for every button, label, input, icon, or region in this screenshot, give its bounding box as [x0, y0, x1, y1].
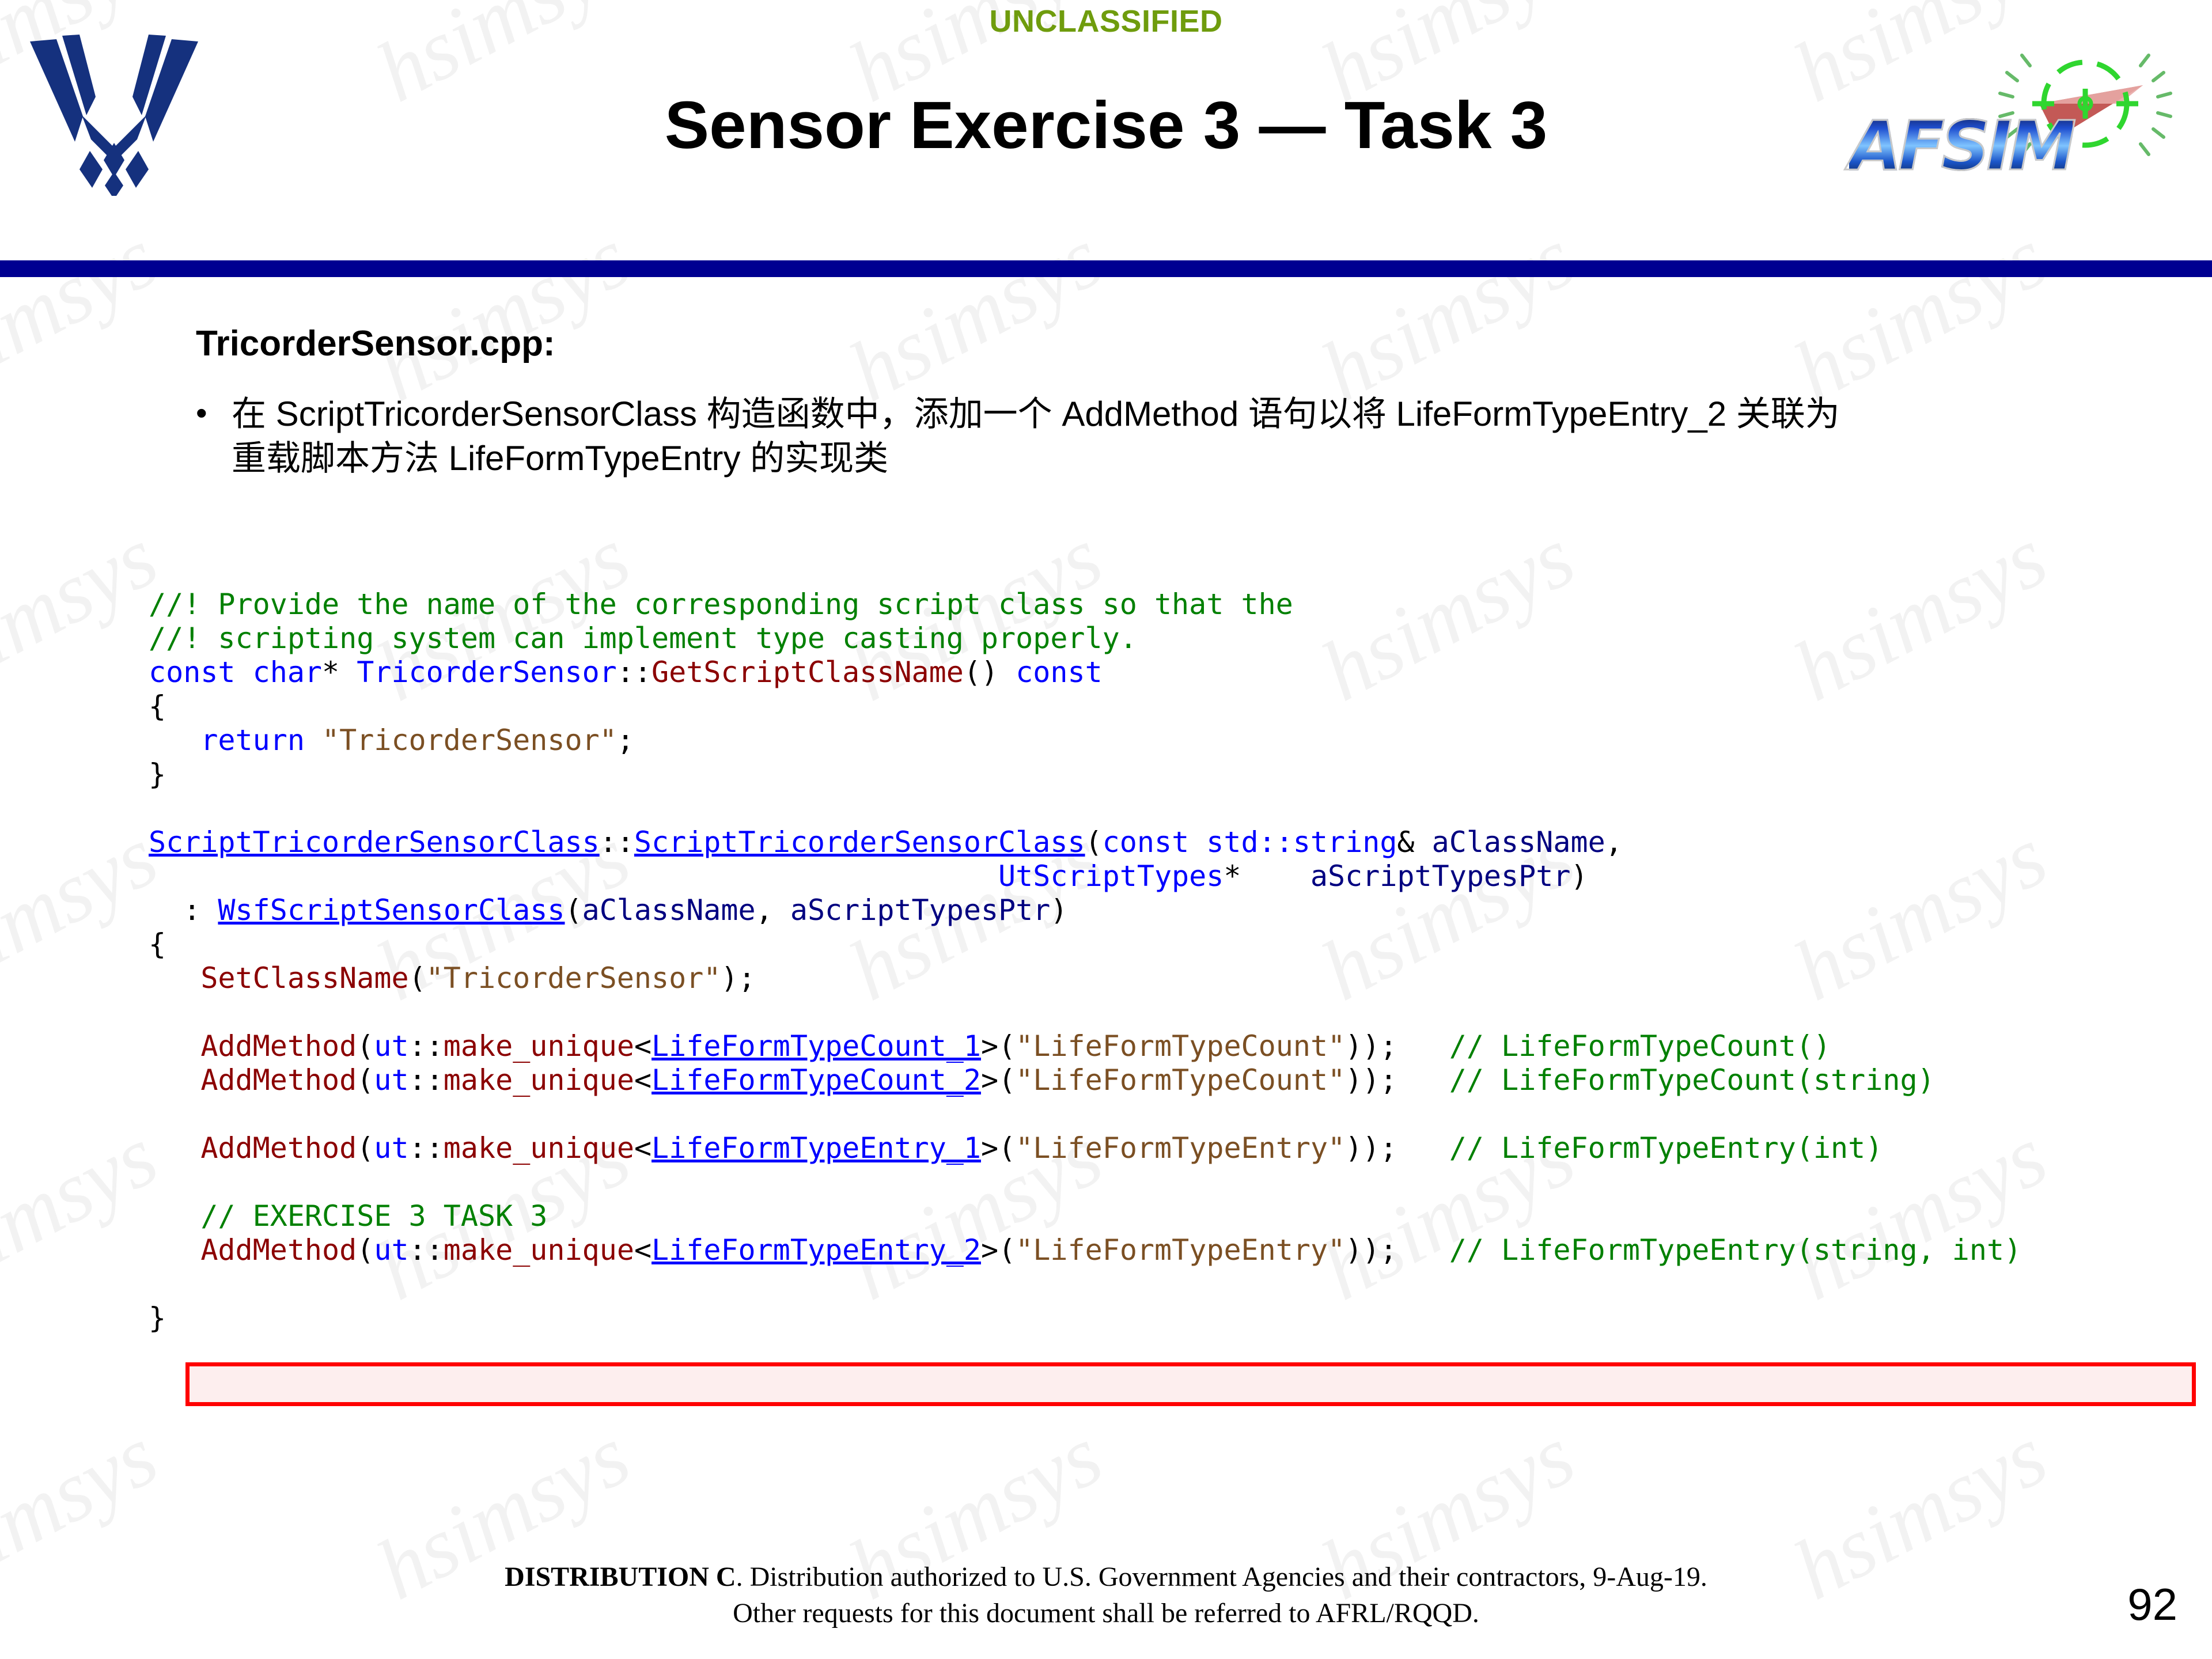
code-token-tmpl: LifeFormTypeEntry_1: [652, 1131, 981, 1165]
code-line-highlighted: AddMethod(ut::make_unique<LifeFormTypeEn…: [149, 1233, 2199, 1267]
code-token-str: "TricorderSensor": [322, 724, 617, 757]
code-token-fn: AddMethod: [200, 1029, 357, 1063]
code-token-tmpl: LifeFormTypeEntry_2: [652, 1233, 981, 1267]
code-token-kw: ut: [374, 1063, 408, 1097]
code-token-fn: make_unique: [444, 1063, 634, 1097]
code-token-plain: {: [149, 927, 166, 961]
code-token-com: // LifeFormTypeCount(string): [1449, 1063, 1935, 1097]
code-token-plain: (: [565, 893, 582, 927]
code-token-plain: >(: [981, 1063, 1016, 1097]
code-token-plain: {: [149, 690, 166, 723]
bullet-marker-icon: •: [196, 392, 232, 434]
code-token-kw: TricorderSensor: [357, 656, 617, 689]
code-token-plain: ,: [1605, 825, 1623, 859]
code-token-tmpl: LifeFormTypeCount_1: [652, 1029, 981, 1063]
code-token-plain: [149, 1029, 200, 1063]
afsim-logo: AFSIM: [1849, 17, 2195, 190]
code-token-plain: (: [1085, 825, 1103, 859]
code-token-fn: AddMethod: [200, 1063, 357, 1097]
code-token-fn: GetScriptClassName: [652, 656, 964, 689]
code-token-plain: }: [149, 1301, 166, 1335]
page-title: Sensor Exercise 3 — Task 3: [242, 86, 1970, 164]
code-token-plain: *: [1224, 859, 1310, 893]
code-line: AddMethod(ut::make_unique<LifeFormTypeCo…: [149, 1029, 2199, 1063]
code-token-tmpl: LifeFormTypeCount_2: [652, 1063, 981, 1097]
code-token-plain: <: [634, 1063, 652, 1097]
afsim-wordmark: AFSIM: [1849, 106, 2073, 185]
code-token-plain: [149, 1199, 200, 1233]
code-token-plain: (): [964, 656, 1016, 689]
code-token-fn: AddMethod: [200, 1131, 357, 1165]
watermark-text: hsimsys: [0, 807, 173, 1021]
code-token-plain: ::: [409, 1233, 444, 1267]
watermark-text: hsimsys: [0, 507, 173, 721]
code-token-fn: AddMethod: [200, 1233, 357, 1267]
code-token-plain: *: [322, 656, 357, 689]
code-token-plain: ::: [409, 1029, 444, 1063]
code-token-var: aScriptTypesPtr: [790, 893, 1051, 927]
code-token-plain: [149, 859, 998, 893]
distribution-label: DISTRIBUTION C: [505, 1562, 736, 1592]
watermark-text: hsimsys: [0, 1107, 173, 1320]
bullet-text: 在 ScriptTricorderSensorClass 构造函数中，添加一个 …: [232, 392, 1866, 481]
code-line: [149, 1165, 2199, 1199]
file-name-label: TricorderSensor.cpp:: [196, 323, 555, 364]
code-line: [149, 1267, 2199, 1301]
task-highlight-box: [185, 1362, 2196, 1406]
code-token-plain: >(: [981, 1131, 1016, 1165]
code-token-kw: ut: [374, 1131, 408, 1165]
bullet-item: •在 ScriptTricorderSensorClass 构造函数中，添加一个…: [196, 392, 1866, 481]
code-listing: //! Provide the name of the correspondin…: [149, 588, 2199, 1335]
code-token-com: //! Provide the name of the correspondin…: [149, 588, 1293, 621]
code-token-plain: ::: [409, 1131, 444, 1165]
code-line: {: [149, 690, 2199, 724]
code-line: //! scripting system can implement type …: [149, 622, 2199, 656]
code-token-cls: WsfScriptSensorClass: [218, 893, 565, 927]
code-token-var: aClassName: [582, 893, 756, 927]
code-line: {: [149, 927, 2199, 961]
code-token-kw: const char: [149, 656, 322, 689]
code-token-plain: [149, 1063, 200, 1097]
code-token-plain: [149, 1131, 200, 1165]
code-token-plain: ;: [617, 724, 634, 757]
code-token-str: "LifeFormTypeEntry": [1016, 1131, 1345, 1165]
code-line: return "TricorderSensor";: [149, 724, 2199, 757]
distribution-line-1: DISTRIBUTION C. Distribution authorized …: [0, 1559, 2212, 1595]
code-token-plain: ));: [1345, 1131, 1449, 1165]
code-token-plain: <: [634, 1029, 652, 1063]
bullet-list: •在 ScriptTricorderSensorClass 构造函数中，添加一个…: [196, 392, 1866, 481]
code-token-plain: [149, 1233, 200, 1267]
code-line: //! Provide the name of the correspondin…: [149, 588, 2199, 622]
code-line: [149, 995, 2199, 1029]
code-token-plain: (: [409, 961, 426, 995]
code-token-plain: ): [1050, 893, 1067, 927]
code-token-kw: const: [1016, 656, 1103, 689]
code-line: }: [149, 1301, 2199, 1335]
code-token-str: "LifeFormTypeEntry": [1016, 1233, 1345, 1267]
code-token-fn: make_unique: [444, 1029, 634, 1063]
code-line: SetClassName("TricorderSensor");: [149, 961, 2199, 995]
code-token-plain: <: [634, 1131, 652, 1165]
code-token-plain: (: [357, 1029, 374, 1063]
code-token-plain: ::: [600, 825, 634, 859]
code-token-kw: ut: [374, 1233, 408, 1267]
title-divider-rule: [0, 260, 2212, 277]
code-token-plain: >(: [981, 1029, 1016, 1063]
code-line: [149, 1097, 2199, 1131]
code-token-kw: const std::string: [1103, 825, 1397, 859]
code-line: [149, 791, 2199, 825]
distribution-line-2: Other requests for this document shall b…: [0, 1595, 2212, 1631]
code-token-plain: ));: [1345, 1233, 1449, 1267]
code-line: const char* TricorderSensor::GetScriptCl…: [149, 656, 2199, 690]
code-token-plain: [305, 724, 322, 757]
code-line: ScriptTricorderSensorClass::ScriptTricor…: [149, 825, 2199, 859]
code-token-plain: (: [357, 1131, 374, 1165]
code-token-plain: [149, 724, 200, 757]
code-line: AddMethod(ut::make_unique<LifeFormTypeEn…: [149, 1131, 2199, 1165]
code-token-plain: &: [1397, 825, 1431, 859]
code-token-fn: SetClassName: [200, 961, 408, 995]
code-token-cls: ScriptTricorderSensorClass: [149, 825, 600, 859]
code-token-str: "LifeFormTypeCount": [1016, 1063, 1345, 1097]
code-token-com: // LifeFormTypeEntry(int): [1449, 1131, 1883, 1165]
code-token-com: //! scripting system can implement type …: [149, 622, 1137, 655]
code-token-plain: );: [721, 961, 755, 995]
code-token-fn: make_unique: [444, 1233, 634, 1267]
code-token-plain: }: [149, 757, 166, 791]
code-token-plain: (: [357, 1233, 374, 1267]
code-token-plain: ));: [1345, 1063, 1449, 1097]
code-token-str: "LifeFormTypeCount": [1016, 1029, 1345, 1063]
page-number: 92: [2127, 1578, 2177, 1631]
code-token-var: aScriptTypesPtr: [1310, 859, 1571, 893]
distribution-footer: DISTRIBUTION C. Distribution authorized …: [0, 1559, 2212, 1632]
code-token-plain: ,: [756, 893, 790, 927]
code-line: AddMethod(ut::make_unique<LifeFormTypeCo…: [149, 1063, 2199, 1097]
code-token-kw: return: [200, 724, 305, 757]
code-token-plain: ));: [1345, 1029, 1449, 1063]
code-token-kw: UtScriptTypes: [998, 859, 1224, 893]
code-line: // EXERCISE 3 TASK 3: [149, 1199, 2199, 1233]
slide-header: UNCLASSIFIED Sensor Exercise 3 — Task 3: [0, 0, 2212, 260]
code-line: }: [149, 757, 2199, 791]
code-token-plain: :: [149, 893, 218, 927]
code-token-com: // LifeFormTypeCount(): [1449, 1029, 1831, 1063]
air-force-logo: [22, 29, 206, 196]
code-token-var: aClassName: [1432, 825, 1605, 859]
code-token-cls: ScriptTricorderSensorClass: [634, 825, 1085, 859]
code-token-plain: ::: [617, 656, 652, 689]
code-token-com: // EXERCISE 3 TASK 3: [200, 1199, 547, 1233]
code-token-str: "TricorderSensor": [426, 961, 721, 995]
code-token-plain: ::: [409, 1063, 444, 1097]
code-token-plain: ): [1570, 859, 1588, 893]
code-token-plain: <: [634, 1233, 652, 1267]
code-token-com: // LifeFormTypeEntry(string, int): [1449, 1233, 2021, 1267]
code-token-plain: >(: [981, 1233, 1016, 1267]
code-token-kw: ut: [374, 1029, 408, 1063]
code-line: UtScriptTypes* aScriptTypesPtr): [149, 859, 2199, 893]
code-token-fn: make_unique: [444, 1131, 634, 1165]
distribution-statement: . Distribution authorized to U.S. Govern…: [736, 1562, 1707, 1592]
code-token-plain: [149, 961, 200, 995]
code-line: : WsfScriptSensorClass(aClassName, aScri…: [149, 893, 2199, 927]
code-token-plain: (: [357, 1063, 374, 1097]
